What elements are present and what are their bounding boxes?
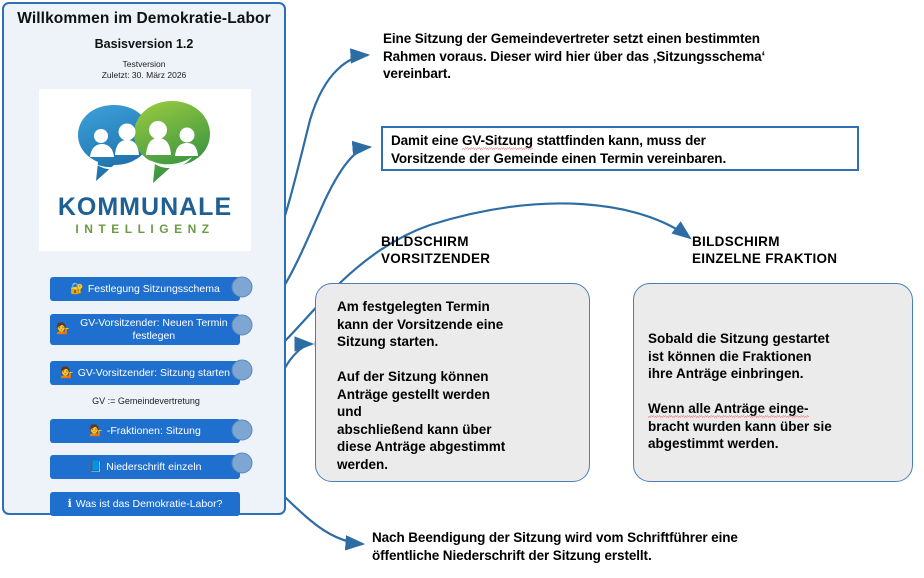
version-label: Basisversion 1.2 — [4, 37, 284, 51]
screen-heading-einzelne-fraktion: BILDSCHIRM EINZELNE FRAKTION — [692, 233, 837, 267]
logo: KOMMUNALE INTELLIGENZ — [39, 89, 251, 251]
person-tipping-hand-icon: 💁 — [89, 426, 103, 437]
button-neuen-termin-festlegen[interactable]: 💁 GV-Vorsitzender: Neuen Termin festlege… — [50, 314, 240, 345]
screen-heading-vorsitzender: BILDSCHIRM VORSITZENDER — [381, 233, 490, 267]
screen-card-vorsitzender: Am festgelegten Termin kann der Vorsitze… — [315, 283, 590, 482]
screen-card-paragraph: Sobald die Sitzung gestartet ist können … — [648, 330, 830, 383]
button-label: Niederschrift einzeln — [106, 461, 201, 474]
diagram-canvas: Willkommen im Demokratie-Labor Basisvers… — [0, 0, 924, 578]
page-title: Willkommen im Demokratie-Labor — [4, 10, 284, 28]
card-line: kann der Vorsitzende eine — [337, 316, 503, 334]
card-line: ist können die Fraktionen — [648, 348, 830, 366]
screen-heading-line: BILDSCHIRM — [692, 233, 837, 250]
card-line: Anträge gestellt werden — [337, 386, 505, 404]
screen-card-einzelne-fraktion: Sobald die Sitzung gestartet ist können … — [633, 283, 913, 482]
card-line: abgestimmt werden. — [648, 435, 832, 453]
information-icon: ℹ — [68, 499, 72, 510]
screen-heading-line: EINZELNE FRAKTION — [692, 250, 837, 267]
card-line: Am festgelegten Termin — [337, 298, 503, 316]
button-sitzung-starten[interactable]: 💁 GV-Vorsitzender: Sitzung starten — [50, 361, 240, 385]
screen-card-paragraph: Am festgelegten Termin kann der Vorsitze… — [337, 298, 503, 351]
screen-card-paragraph: Wenn alle Anträge einge- bracht wurden k… — [648, 400, 832, 453]
button-label: Festlegung Sitzungsschema — [88, 283, 220, 296]
person-tipping-hand-icon: 💁 — [60, 368, 74, 379]
card-line: abschließend kann über — [337, 421, 505, 439]
callout-sitzungsschema: Eine Sitzung der Gemeindevertreter setzt… — [383, 30, 923, 83]
button-label: Was ist das Demokratie-Labor? — [76, 498, 223, 511]
callout-line: Nach Beendigung der Sitzung wird vom Sch… — [372, 529, 912, 547]
callout-line: Damit eine GV-Sitzung stattfinden kann, … — [391, 132, 849, 150]
screen-heading-line: BILDSCHIRM — [381, 233, 490, 250]
logo-subwordmark: INTELLIGENZ — [39, 222, 251, 236]
card-line: Auf der Sitzung können — [337, 368, 505, 386]
card-line: Sitzung starten. — [337, 333, 503, 351]
card-line: Sobald die Sitzung gestartet — [648, 330, 830, 348]
card-line: bracht wurden kann über sie — [648, 418, 832, 436]
gv-abbreviation-note: GV := Gemeindevertretung — [4, 396, 288, 406]
callout-line: Rahmen voraus. Dieser wird hier über das… — [383, 48, 923, 66]
build-info-line1: Testversion — [4, 59, 284, 70]
speech-bubbles-people-icon — [70, 97, 220, 197]
callout-niederschrift: Nach Beendigung der Sitzung wird vom Sch… — [372, 529, 912, 564]
build-info: Testversion Zuletzt: 30. März 2026 — [4, 59, 284, 81]
spellcheck-underlined-text: Wenn alle Anträge einge- — [648, 401, 809, 416]
card-line: ihre Anträge einbringen. — [648, 365, 830, 383]
callout-text-a: Damit eine — [391, 133, 462, 148]
callout-line: Vorsitzende der Gemeinde einen Termin ve… — [391, 150, 849, 168]
button-festlegung-sitzungsschema[interactable]: 🔐 Festlegung Sitzungsschema — [50, 277, 240, 301]
button-label: GV-Vorsitzender: Neuen Termin festlegen — [74, 317, 234, 343]
logo-wordmark: KOMMUNALE — [39, 193, 251, 222]
button-label: GV-Vorsitzender: Sitzung starten — [78, 367, 230, 380]
build-info-line2: Zuletzt: 30. März 2026 — [4, 70, 284, 81]
callout-line: öffentliche Niederschrift der Sitzung er… — [372, 547, 912, 565]
screen-card-paragraph: Auf der Sitzung können Anträge gestellt … — [337, 368, 505, 473]
button-fraktionen-sitzung[interactable]: 💁 -Fraktionen: Sitzung — [50, 419, 240, 443]
button-niederschrift-einzeln[interactable]: 📘 Niederschrift einzeln — [50, 455, 240, 479]
callout-termin-box: Damit eine GV-Sitzung stattfinden kann, … — [381, 126, 859, 171]
callout-text-b: stattfinden kann, muss der — [533, 133, 706, 148]
card-line: werden. — [337, 456, 505, 474]
person-tipping-hand-icon: 💁 — [56, 324, 70, 335]
locked-with-key-icon: 🔐 — [70, 284, 84, 295]
card-line: diese Anträge abgestimmt — [337, 438, 505, 456]
screen-heading-line: VORSITZENDER — [381, 250, 490, 267]
callout-line: vereinbart. — [383, 65, 923, 83]
card-line: und — [337, 403, 505, 421]
button-was-ist-das-demokratie-labor[interactable]: ℹ Was ist das Demokratie-Labor? — [50, 492, 240, 516]
blue-book-icon: 📘 — [89, 462, 103, 473]
card-line: Wenn alle Anträge einge- — [648, 400, 832, 418]
button-label: -Fraktionen: Sitzung — [107, 425, 201, 438]
app-window-panel: Willkommen im Demokratie-Labor Basisvers… — [2, 2, 286, 515]
callout-line: Eine Sitzung der Gemeindevertreter setzt… — [383, 30, 923, 48]
spellcheck-underlined-text: GV-Sitzung — [462, 133, 533, 148]
